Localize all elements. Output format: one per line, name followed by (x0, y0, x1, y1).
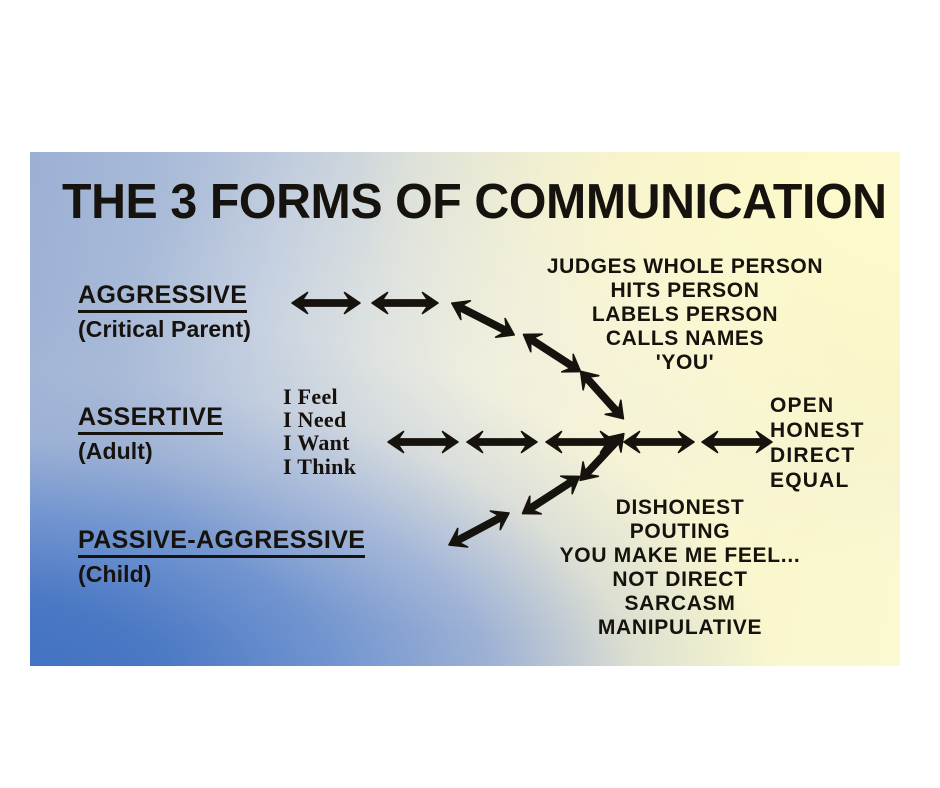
outcomes-assertive: OPEN HONEST DIRECT EQUAL (770, 395, 865, 495)
outcome-item: POUTING (510, 521, 850, 545)
outcome-item: OPEN (770, 395, 865, 420)
row-label-passive-aggressive: PASSIVE-AGGRESSIVE (Child) (78, 527, 365, 586)
outcome-item: LABELS PERSON (515, 304, 855, 328)
arrow-assertive-4 (624, 427, 694, 457)
arrow-aggressive-3 (445, 290, 521, 349)
arrow-passive-1 (442, 500, 516, 558)
statement-item: I Feel (283, 385, 356, 408)
communication-poster: THE 3 FORMS OF COMMUNICATION AGGRESSIVE … (30, 152, 900, 666)
outcome-item: SARCASM (510, 593, 850, 617)
outcome-item: DIRECT (770, 445, 865, 470)
arrow-assertive-2 (467, 427, 537, 457)
outcome-item: HONEST (770, 420, 865, 445)
row-label-assertive: ASSERTIVE (Adult) (78, 404, 223, 463)
statement-item: I Need (283, 408, 356, 431)
statement-item: I Want (283, 431, 356, 454)
arrow-assertive-1 (388, 427, 458, 457)
arrow-aggressive-2 (372, 288, 438, 318)
arrow-aggressive-1 (292, 288, 360, 318)
row-label-passive-aggressive-title: PASSIVE-AGGRESSIVE (78, 527, 365, 558)
statement-item: I Think (283, 455, 356, 478)
assertive-statements: I Feel I Need I Want I Think (283, 385, 356, 478)
outcome-item: HITS PERSON (515, 280, 855, 304)
outcome-item: EQUAL (770, 470, 865, 495)
arrow-assertive-5 (702, 427, 772, 457)
outcome-item: JUDGES WHOLE PERSON (515, 256, 855, 280)
outcomes-passive-aggressive: DISHONEST POUTING YOU MAKE ME FEEL... NO… (510, 497, 850, 641)
row-label-aggressive-title: AGGRESSIVE (78, 282, 247, 313)
outcome-item: NOT DIRECT (510, 569, 850, 593)
page-title: THE 3 FORMS OF COMMUNICATION (62, 178, 887, 227)
outcome-item: YOU MAKE ME FEEL... (510, 545, 850, 569)
row-label-passive-aggressive-subtitle: (Child) (78, 562, 365, 586)
row-label-assertive-title: ASSERTIVE (78, 404, 223, 435)
poster-content: THE 3 FORMS OF COMMUNICATION AGGRESSIVE … (30, 152, 900, 666)
row-label-assertive-subtitle: (Adult) (78, 439, 223, 463)
row-label-aggressive-subtitle: (Critical Parent) (78, 317, 251, 341)
outcome-item: MANIPULATIVE (510, 617, 850, 641)
row-label-aggressive: AGGRESSIVE (Critical Parent) (78, 282, 251, 341)
